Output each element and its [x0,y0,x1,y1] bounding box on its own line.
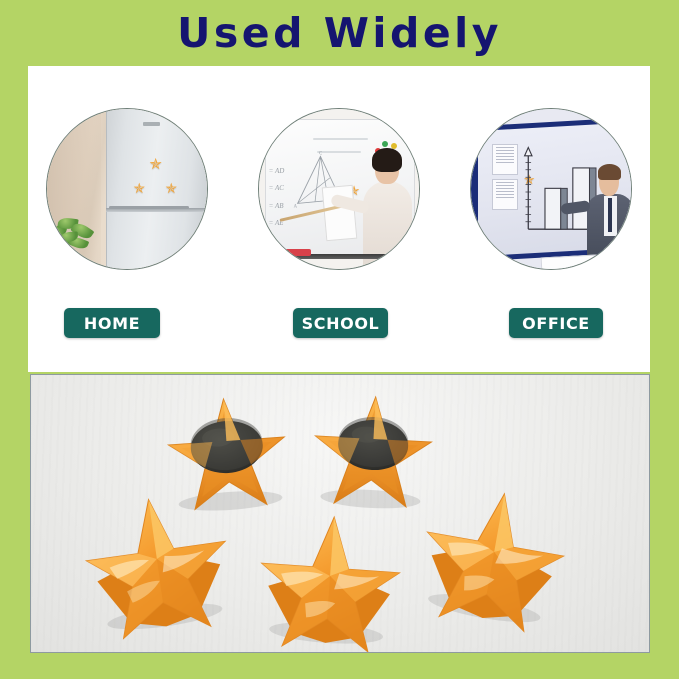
refrigerator [106,108,208,270]
teacher-hair [372,148,401,172]
star-magnet-front-middle [253,505,407,649]
star-magnet-icon: ✯ [165,181,177,195]
scene-photo-office: ✯ [470,108,632,270]
held-paper [321,185,357,242]
svg-text:C: C [319,151,322,156]
product-photo-panel [30,374,650,653]
svg-text:A: A [293,204,297,209]
scene-label-row: HOME SCHOOL OFFICE [28,308,650,352]
badge-office[interactable]: OFFICE [509,308,603,338]
home-scene: ✯ ✯ ✯ [47,109,207,269]
star-magnet-icon: ✯ [133,181,145,195]
page-title: Used Widely [177,13,502,54]
title-bar: Used Widely [0,0,679,66]
scene-photo-school: = AD = AC = AB = AE C A B [258,108,420,270]
scene-circle-row: ✯ ✯ ✯ [28,66,650,306]
potted-plant [46,215,108,270]
businessman-hair [598,164,621,180]
businessman-tie [608,198,612,232]
star-magnet-front-left [79,487,235,633]
board-equation: = AD [269,167,285,175]
desk-paper [541,254,598,270]
board-left-frame [471,109,478,269]
note-paper [492,144,518,175]
green-marker [277,250,289,256]
school-scene: = AD = AC = AB = AE C A B [259,109,419,269]
star-magnet-icon: ✯ [149,157,162,172]
infographic-root: Used Widely ✯ ✯ ✯ [0,0,679,679]
refrigerator-handle [109,206,189,209]
businessman-figure [583,167,632,266]
badge-home[interactable]: HOME [64,308,160,338]
usage-scenes-panel: ✯ ✯ ✯ [28,66,650,372]
badge-school[interactable]: SCHOOL [293,308,388,338]
star-magnet-front-right [417,481,571,625]
board-equation: = AC [269,184,284,192]
note-paper [492,179,518,210]
teacher-figure [349,151,420,269]
office-scene: ✯ [471,109,631,269]
plant-pot [60,260,83,270]
scene-photo-home: ✯ ✯ ✯ [46,108,208,270]
refrigerator-logo [143,122,160,126]
board-equation: = AB [269,202,284,210]
